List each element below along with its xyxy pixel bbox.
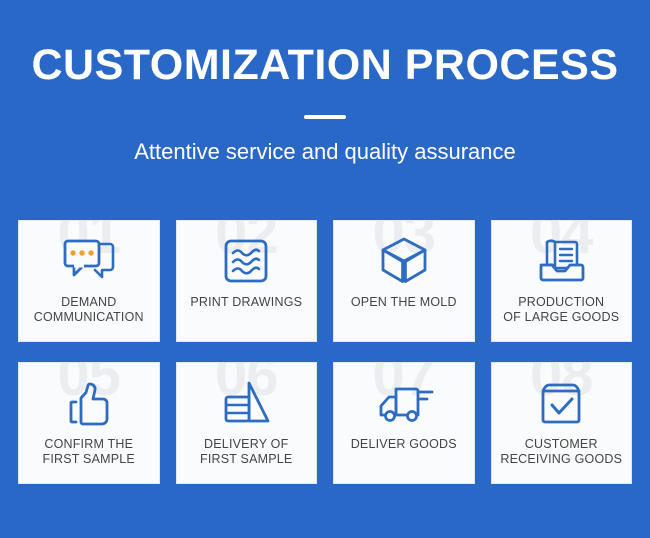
step-label: OPEN THE MOLD: [347, 295, 461, 310]
process-steps-grid: 01 DEMAND COMMUNICATION 02: [18, 220, 632, 484]
pyramid-stack-icon: [220, 375, 272, 431]
page-subtitle: Attentive service and quality assurance: [0, 141, 650, 163]
page-title: CUSTOMIZATION PROCESS: [0, 44, 650, 87]
step-label: CONFIRM THE FIRST SAMPLE: [39, 437, 139, 467]
box-check-icon: [536, 375, 586, 431]
cube-icon: [380, 233, 428, 289]
step-label: DELIVER GOODS: [347, 437, 461, 452]
process-step-card-02[interactable]: 02 PRINT DRAWINGS: [176, 220, 318, 342]
process-step-card-05[interactable]: 05 CONFIRM THE FIRST SAMPLE: [18, 362, 160, 484]
step-label: PRODUCTION OF LARGE GOODS: [499, 295, 623, 325]
wavy-lines-document-icon: [223, 233, 269, 289]
step-label: DEMAND COMMUNICATION: [30, 295, 148, 325]
header: CUSTOMIZATION PROCESS Attentive service …: [0, 0, 650, 163]
step-label: DELIVERY OF FIRST SAMPLE: [196, 437, 296, 467]
step-label: PRINT DRAWINGS: [186, 295, 306, 310]
customization-process-infographic: CUSTOMIZATION PROCESS Attentive service …: [0, 0, 650, 538]
title-divider: [304, 115, 346, 119]
process-step-card-06[interactable]: 06 DELIVERY OF FIRST SAMPLE: [176, 362, 318, 484]
process-step-card-07[interactable]: 07 DELIVER GOODS: [333, 362, 475, 484]
process-step-card-08[interactable]: 08 CUSTOMER RECEIVING GOODS: [491, 362, 633, 484]
process-step-card-04[interactable]: 04 PRODUCTION OF LARGE GOODS: [491, 220, 633, 342]
process-step-card-03[interactable]: 03 OPEN THE MOLD: [333, 220, 475, 342]
step-label: CUSTOMER RECEIVING GOODS: [496, 437, 626, 467]
document-tray-icon: [535, 233, 587, 289]
thumbs-up-icon: [65, 375, 113, 431]
chat-bubbles-icon: [62, 233, 116, 289]
delivery-truck-icon: [374, 375, 434, 431]
process-step-card-01[interactable]: 01 DEMAND COMMUNICATION: [18, 220, 160, 342]
